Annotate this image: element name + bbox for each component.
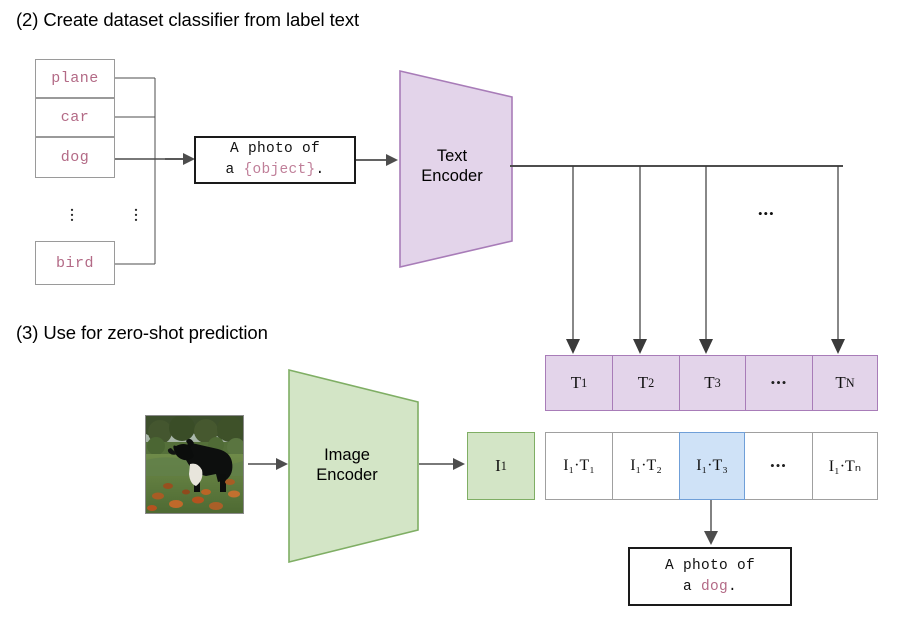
- prompt-line-2: a {object}.: [225, 160, 324, 181]
- text-feature-cell-tn[interactable]: TN: [812, 355, 878, 411]
- result-line-2-prefix: a: [683, 579, 701, 595]
- text-feature-cell-ellipsis: •••: [745, 355, 812, 411]
- text-feature-row: T1 T2 T3 ••• TN: [545, 355, 878, 411]
- input-photo[interactable]: [145, 415, 244, 514]
- prompt-template-box[interactable]: A photo of a {object}.: [194, 136, 356, 184]
- input-photo-image: [146, 416, 243, 513]
- result-line-2-suffix: .: [728, 579, 737, 595]
- image-feature-box-i1[interactable]: I1: [467, 432, 535, 500]
- text-feature-cell-t2-sub: 2: [648, 376, 654, 391]
- prompt-line-1: A photo of: [230, 139, 320, 160]
- text-feature-cell-tn-sub: N: [846, 376, 855, 391]
- similarity-cell-3-selected[interactable]: I₁·T₃: [679, 432, 745, 500]
- image-encoder[interactable]: Image Encoder: [285, 366, 425, 568]
- similarity-cell-ellipsis: •••: [745, 432, 812, 500]
- text-feature-fanout-connectors: [505, 155, 900, 365]
- result-line-2: a dog.: [683, 577, 737, 598]
- result-line-1: A photo of: [665, 556, 755, 577]
- text-feature-cell-t3-sub: 3: [715, 376, 721, 391]
- similarity-cell-n[interactable]: I₁·Tₙ: [812, 432, 878, 500]
- arrow-image-encoder-to-i1: [419, 453, 471, 477]
- prediction-result-box[interactable]: A photo of a dog.: [628, 547, 792, 606]
- text-feature-cell-t2-base: T: [638, 373, 648, 393]
- similarity-row: I₁·T₁ I₁·T₂ I₁·T₃ ••• I₁·Tₙ: [545, 432, 878, 500]
- text-feature-cell-t3[interactable]: T3: [679, 355, 745, 411]
- image-encoder-shape: [285, 366, 425, 568]
- text-feature-cell-tn-base: T: [835, 373, 845, 393]
- prompt-object-token: {object}: [243, 162, 315, 178]
- result-predicted-word: dog: [701, 579, 728, 595]
- text-feature-cell-t2[interactable]: T2: [612, 355, 679, 411]
- text-feature-cell-t1-sub: 1: [581, 376, 587, 391]
- prompt-line-2-prefix: a: [225, 162, 243, 178]
- heading-step-3: (3) Use for zero-shot prediction: [16, 322, 268, 344]
- image-feature-sub: 1: [501, 459, 507, 474]
- text-feature-cell-t1[interactable]: T1: [545, 355, 612, 411]
- prompt-line-2-suffix: .: [316, 162, 325, 178]
- similarity-cell-2[interactable]: I₁·T₂: [612, 432, 679, 500]
- arrow-similarity-to-result: [700, 500, 726, 548]
- similarity-cell-1[interactable]: I₁·T₁: [545, 432, 612, 500]
- text-feature-cell-t3-base: T: [704, 373, 714, 393]
- text-feature-fanout-ellipsis: •••: [758, 206, 775, 222]
- text-feature-cell-t1-base: T: [571, 373, 581, 393]
- diagram-canvas: (2) Create dataset classifier from label…: [0, 0, 906, 624]
